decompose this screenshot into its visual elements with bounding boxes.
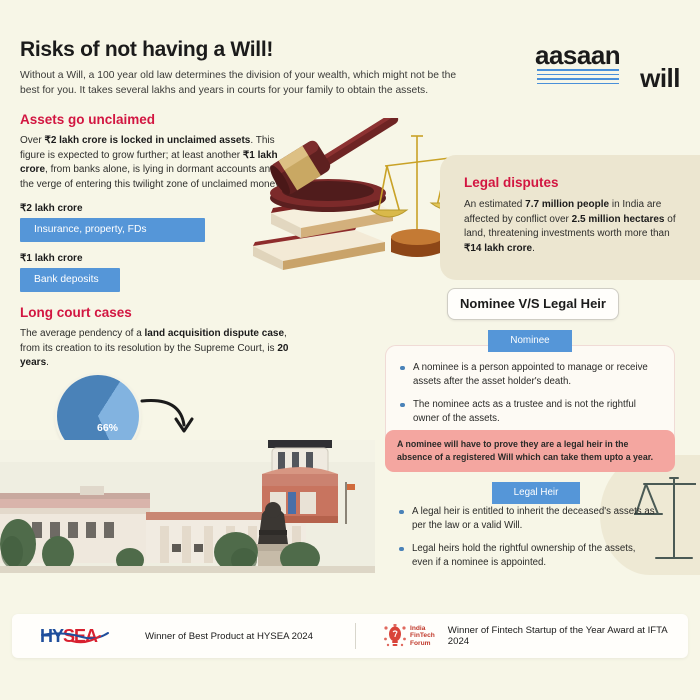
lightbulb-icon (384, 624, 406, 648)
legal-heir-card: A legal heir is entitled to inherit the … (385, 497, 675, 567)
infographic-page: Risks of not having a Will! Without a Wi… (0, 0, 700, 700)
page-subtitle: Without a Will, a 100 year old law deter… (20, 68, 470, 98)
logo-word-aasaan: aasaan (535, 40, 620, 71)
india-fintech-forum-logo: India FinTech Forum (384, 624, 435, 648)
ld-bold-3: ₹14 lakh crore (464, 243, 532, 254)
award-hysea-text: Winner of Best Product at HYSEA 2024 (145, 631, 313, 642)
long-court-cases-section: Long court cases The average pendency of… (20, 305, 290, 371)
page-title: Risks of not having a Will! (20, 38, 273, 62)
award-ifta: India FinTech Forum Winner of Fintech St… (384, 614, 688, 658)
award-hysea: HY SEA Winner of Best Product at HYSEA 2… (40, 614, 313, 658)
court-cases-body: The average pendency of a land acquisiti… (20, 327, 290, 371)
list-item: Legal heirs hold the rightful ownership … (399, 542, 659, 570)
cc-text-1: The average pendency of a (20, 328, 145, 339)
nominee-vs-legal-heir-title: Nominee V/S Legal Heir (447, 288, 619, 320)
pill-nominee: Nominee (488, 330, 572, 352)
ld-bold-2: 2.5 million hectares (572, 214, 665, 225)
footer-awards-bar: HY SEA Winner of Best Product at HYSEA 2… (12, 614, 688, 658)
gavel-and-scales-illustration (245, 118, 460, 283)
list-item: A nominee is a person appointed to manag… (400, 361, 658, 389)
header: Risks of not having a Will! Without a Wi… (0, 0, 700, 110)
pill-legal-heir: Legal Heir (492, 482, 580, 504)
cc-bold-1: land acquisition dispute case (145, 328, 284, 339)
cc-text-3: . (46, 357, 49, 368)
iff-line-1: India (410, 625, 435, 633)
iff-line-3: Forum (410, 640, 435, 648)
footer-divider (355, 623, 356, 649)
ld-text-4: . (532, 243, 535, 254)
logo-lines-icon (537, 69, 619, 87)
asset-bar-insurance: Insurance, property, FDs (20, 218, 205, 242)
pie-chart-value-label: 66% (97, 422, 118, 434)
ld-text-1: An estimated (464, 199, 525, 210)
nominee-warning-box: A nominee will have to prove they are a … (385, 430, 675, 472)
aasaan-will-logo: aasaan will (535, 40, 680, 90)
asset-bar-bank-deposits: Bank deposits (20, 268, 120, 292)
list-item: The nominee acts as a trustee and is not… (400, 398, 658, 426)
curved-arrow-icon (140, 395, 200, 443)
legal-disputes-body: An estimated 7.7 million people in India… (464, 198, 680, 256)
list-item: A legal heir is entitled to inherit the … (399, 505, 659, 533)
hysea-swoosh-icon (40, 625, 132, 647)
court-cases-heading: Long court cases (20, 305, 290, 320)
assets-bold-1: ₹2 lakh crore is locked in unclaimed ass… (44, 135, 250, 146)
supreme-court-building-photo (0, 440, 375, 573)
heir-points-list: A legal heir is entitled to inherit the … (399, 505, 659, 570)
assets-body-prefix: Over (20, 135, 44, 146)
nominee-points-list: A nominee is a person appointed to manag… (400, 361, 658, 426)
ld-bold-1: 7.7 million people (525, 199, 609, 210)
logo-word-will: will (640, 63, 680, 94)
legal-disputes-card: Legal disputes An estimated 7.7 million … (440, 155, 700, 280)
award-ifta-text: Winner of Fintech Startup of the Year Aw… (448, 625, 688, 647)
hysea-logo: HY SEA (40, 625, 132, 647)
india-fintech-forum-text: India FinTech Forum (410, 625, 435, 648)
legal-disputes-heading: Legal disputes (464, 175, 680, 190)
iff-line-2: FinTech (410, 632, 435, 640)
